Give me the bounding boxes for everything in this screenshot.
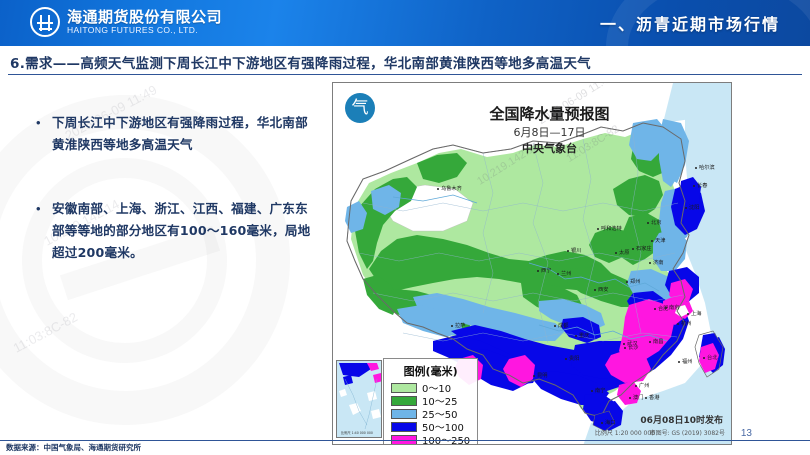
map-city-label: 哈尔滨 <box>699 165 715 171</box>
page-title: 6.需求——高频天气监测下周长江中下游地区有强降雨过程，华北南部黄淮陕西等地多高… <box>10 52 591 72</box>
list-item: • 安徽南部、上海、浙江、江西、福建、广东东部等等地的部分地区有100～160毫… <box>36 198 316 264</box>
legend-color-swatch <box>391 422 417 432</box>
slide-canvas: 2025-06-09 11:49 10.219.142.14 11:03:8C-… <box>0 0 810 455</box>
map-city-label: 长春 <box>697 183 707 189</box>
section-title: 一、沥青近期市场行情 <box>600 11 780 35</box>
legend-range-label: 100～250 <box>422 432 470 445</box>
map-city-label: 北京 <box>651 220 661 226</box>
map-city-label: 上海 <box>691 311 701 317</box>
slide-header: 海通期货股份有限公司 HAITONG FUTURES CO., LTD. 一、沥… <box>0 0 810 46</box>
map-city-label: 济南 <box>653 260 663 266</box>
page-number: 13 <box>741 428 752 439</box>
map-city-label: 台北 <box>707 355 717 361</box>
map-city-label: 广州 <box>639 383 649 389</box>
precipitation-forecast-map: 气 全国降水量预报图 6月8日—17日 中央气象台 2025-06-09 11:… <box>332 82 732 445</box>
map-city-label: 天津 <box>655 238 665 244</box>
map-agency-name: 中央气象台 <box>333 140 731 156</box>
map-city-label: 香港 <box>649 395 659 401</box>
map-legend: 图例(毫米) 0～1010～2525～5050～100100～250 <box>383 358 478 445</box>
bullet-text: 下周长江中下游地区有强降雨过程，华北南部黄淮陕西等地多高温天气 <box>52 112 316 156</box>
haitong-logo-icon <box>30 7 60 37</box>
map-city-label: 太原 <box>619 250 629 256</box>
map-city-label: 南昌 <box>653 339 663 345</box>
bullet-marker: • <box>36 198 52 264</box>
map-city-label: 杭州 <box>681 321 691 327</box>
map-city-label: 拉萨 <box>455 323 465 329</box>
list-item: • 下周长江中下游地区有强降雨过程，华北南部黄淮陕西等地多高温天气 <box>36 112 316 156</box>
map-date-range: 6月8日—17日 <box>333 124 731 140</box>
map-city-label: 郑州 <box>630 279 640 285</box>
map-title: 全国降水量预报图 <box>333 103 731 124</box>
legend-color-swatch <box>391 383 417 393</box>
map-city-label: 西安 <box>598 287 608 293</box>
data-source-note: 数据来源：中国气象局、海通期货研究所 <box>6 442 141 453</box>
inset-scale-label: 比例尺 1:40 000 000 <box>341 430 373 435</box>
background-watermark-text-3: 11:03:8C-82 <box>11 309 80 355</box>
map-city-label: 重庆 <box>579 333 589 339</box>
map-city-label: 长沙 <box>628 345 638 351</box>
map-city-label: 南京 <box>669 305 679 311</box>
map-city-label: 沈阳 <box>689 205 699 211</box>
map-city-label: 福州 <box>682 359 692 365</box>
map-city-label: 澳门 <box>633 395 643 401</box>
header-underline <box>0 46 810 48</box>
map-city-label: 银川 <box>571 248 581 254</box>
map-city-label: 昆明 <box>537 373 547 379</box>
map-approval-number: 审图号: GS (2019) 3082号 <box>650 428 725 437</box>
bullet-marker: • <box>36 112 52 156</box>
map-city-label: 成都 <box>558 323 568 329</box>
title-divider <box>8 74 802 75</box>
map-issued-time: 06月08日10时发布 <box>640 413 723 426</box>
legend-title: 图例(毫米) <box>391 363 470 379</box>
bullet-list: • 下周长江中下游地区有强降雨过程，华北南部黄淮陕西等地多高温天气 • 安徽南部… <box>36 112 316 306</box>
legend-color-swatch <box>391 409 417 419</box>
map-city-label: 西宁 <box>541 268 551 274</box>
company-name-cn: 海通期货股份有限公司 <box>67 9 222 25</box>
company-name-en: HAITONG FUTURES CO., LTD. <box>67 25 222 36</box>
legend-color-swatch <box>391 396 417 406</box>
map-city-label: 乌鲁木齐 <box>441 186 462 192</box>
map-city-label: 兰州 <box>561 271 571 277</box>
legend-item: 100～250 <box>391 433 470 445</box>
map-scale-label: 比例尺 1:20 000 000 <box>595 428 655 437</box>
map-city-label: 南宁 <box>595 388 605 394</box>
footer-divider <box>0 440 810 441</box>
company-logo: 海通期货股份有限公司 HAITONG FUTURES CO., LTD. <box>30 7 222 37</box>
bullet-text: 安徽南部、上海、浙江、江西、福建、广东东部等等地的部分地区有100～160毫米，… <box>52 198 316 264</box>
south-china-sea-inset-map: 比例尺 1:40 000 000 <box>336 360 382 438</box>
map-city-label: 石家庄 <box>636 246 652 252</box>
map-city-label: 海口 <box>605 420 615 426</box>
map-city-label: 贵阳 <box>569 356 579 362</box>
map-city-label: 呼和浩特 <box>601 226 622 232</box>
